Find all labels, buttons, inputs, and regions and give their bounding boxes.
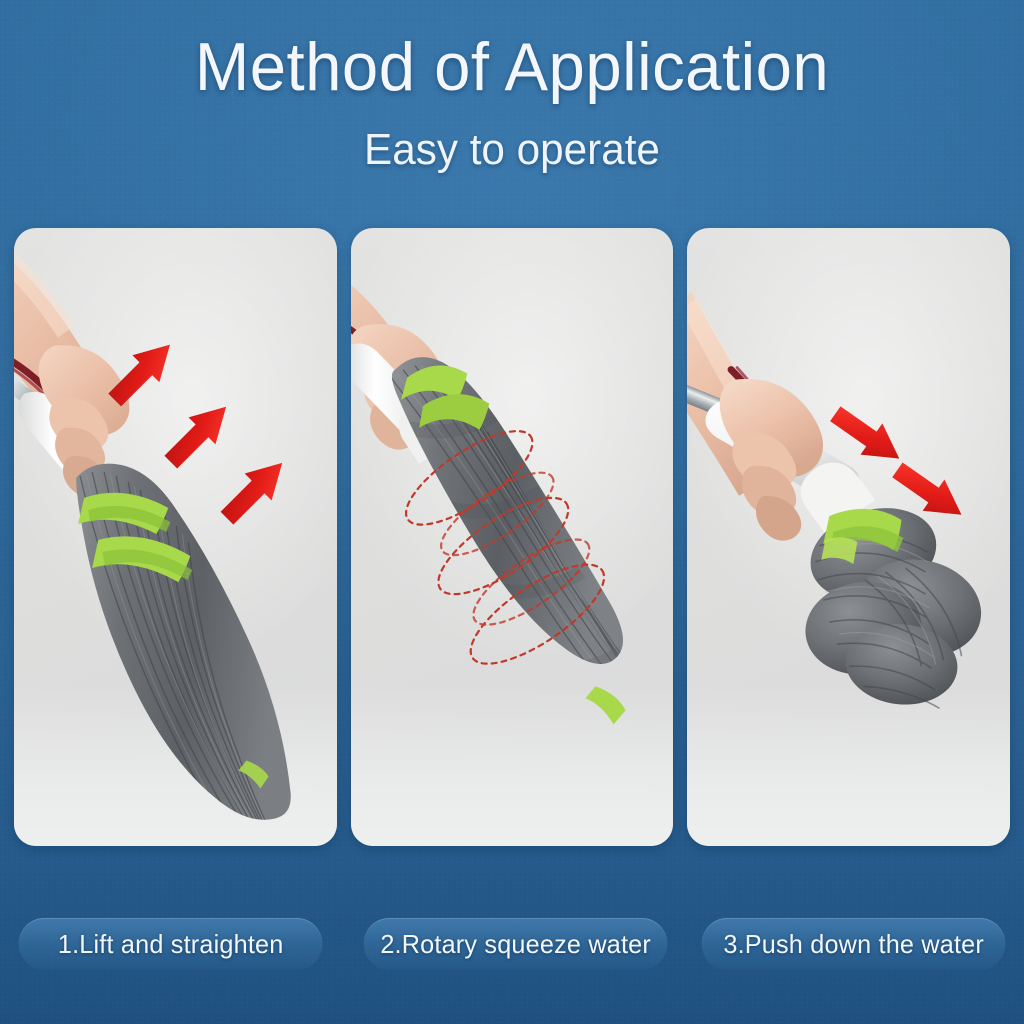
mop-lift-illustration xyxy=(14,228,337,846)
caption-rotary: 2.Rotary squeeze water xyxy=(364,918,668,970)
page-title: Method of Application xyxy=(20,33,1003,101)
caption-lift: 1.Lift and straighten xyxy=(19,918,323,970)
gripping-hand xyxy=(720,379,823,541)
step-panel-rotary xyxy=(351,228,674,846)
step-panel-lift xyxy=(14,228,337,846)
step-panels xyxy=(14,228,1010,846)
page-subtitle: Easy to operate xyxy=(20,128,1003,172)
arrow-up-left-3 xyxy=(213,449,295,531)
mop-head-knot xyxy=(800,494,991,710)
mop-head-strands xyxy=(76,464,291,846)
step-panel-push xyxy=(687,228,1010,846)
mop-push-illustration xyxy=(687,228,1010,846)
twisted-mop-head xyxy=(381,357,646,724)
arrow-up-left-2 xyxy=(157,393,239,475)
infographic-root: Method of Application Easy to operate xyxy=(0,0,1024,1024)
mop-rotary-illustration xyxy=(351,228,674,846)
step-captions: 1.Lift and straighten 2.Rotary squeeze w… xyxy=(14,918,1010,970)
caption-push: 3.Push down the water xyxy=(701,918,1005,970)
